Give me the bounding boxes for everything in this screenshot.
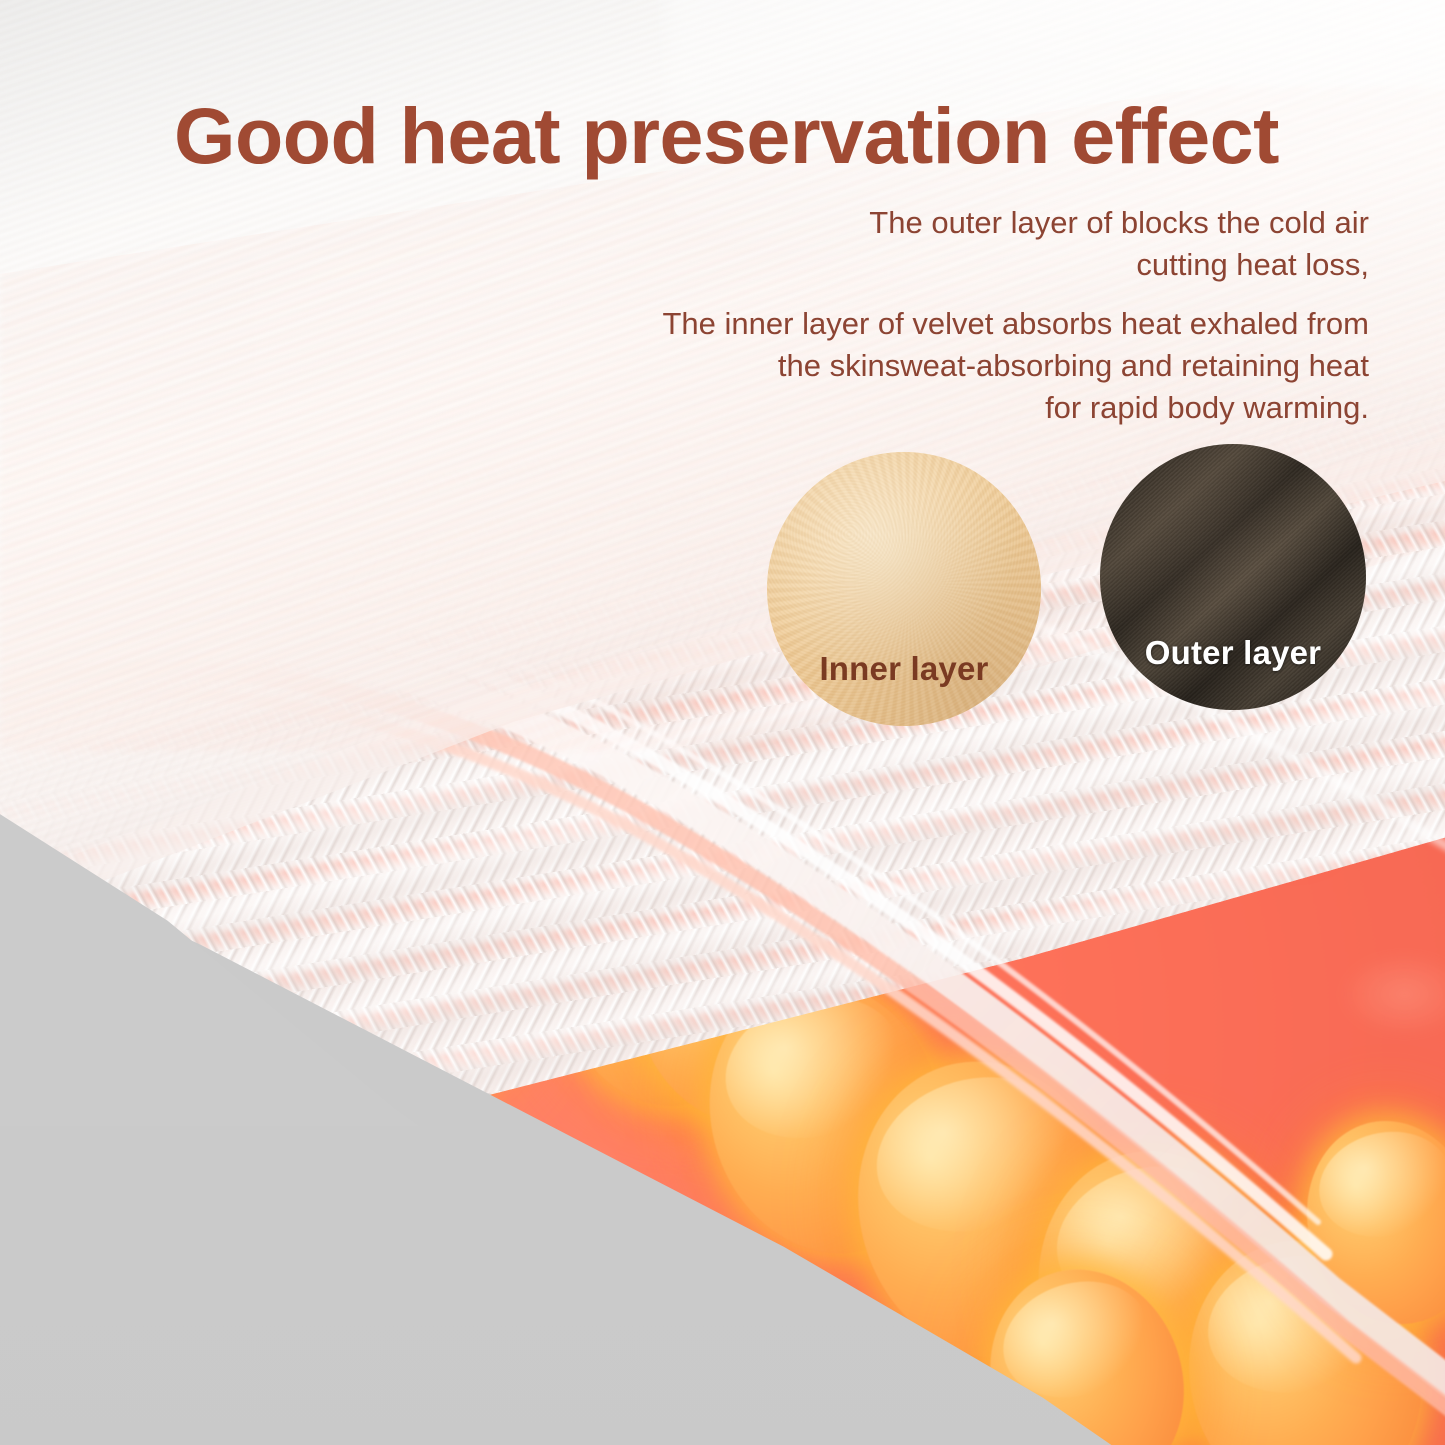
description-paragraph-inner: The inner layer of velvet absorbs heat e…: [539, 303, 1369, 429]
swatch-inner-label: Inner layer: [819, 650, 988, 726]
swatch-outer-layer[interactable]: Outer layer: [1100, 444, 1366, 710]
page-title: Good heat preservation effect: [174, 96, 1374, 175]
swatch-outer-label: Outer layer: [1145, 634, 1321, 710]
product-feature-image: Good heat preservation effect The outer …: [0, 0, 1445, 1445]
swatch-inner-layer[interactable]: Inner layer: [767, 452, 1041, 726]
description-paragraph-outer: The outer layer of blocks the cold air c…: [669, 202, 1369, 286]
